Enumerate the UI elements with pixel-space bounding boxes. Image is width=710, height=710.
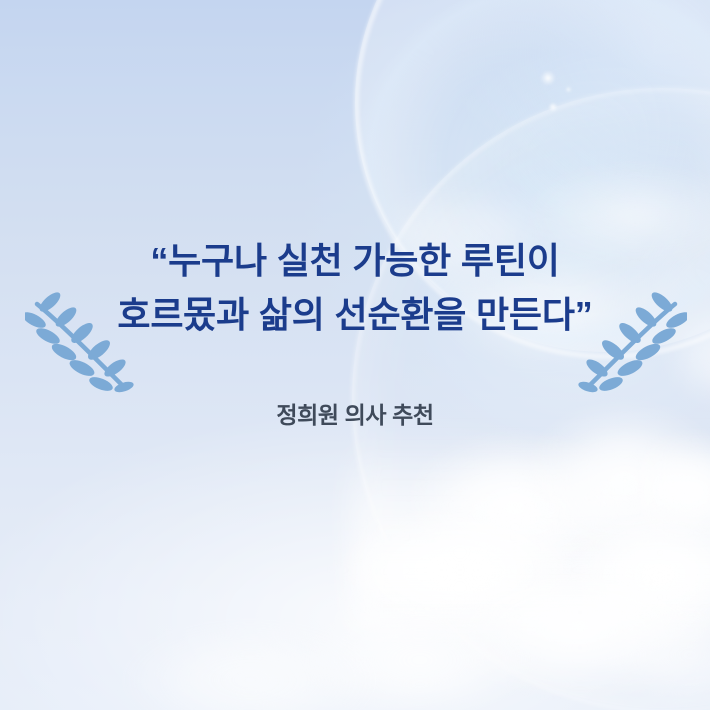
quote-line-2: 호르몼과 삶의 선순환을 만든다” [0,288,710,342]
card-content: “누구나 실천 가능한 루틴이 호르몼과 삶의 선순환을 만든다” 정희원 의사… [0,0,710,710]
quote-card: “누구나 실천 가능한 루틴이 호르몼과 삶의 선순환을 만든다” 정희원 의사… [0,0,710,710]
quote-block: “누구나 실천 가능한 루틴이 호르몼과 삶의 선순환을 만든다” [0,234,710,342]
quote-line-1: “누구나 실천 가능한 루틴이 [0,234,710,288]
attribution-text: 정희원 의사 추천 [0,396,710,430]
